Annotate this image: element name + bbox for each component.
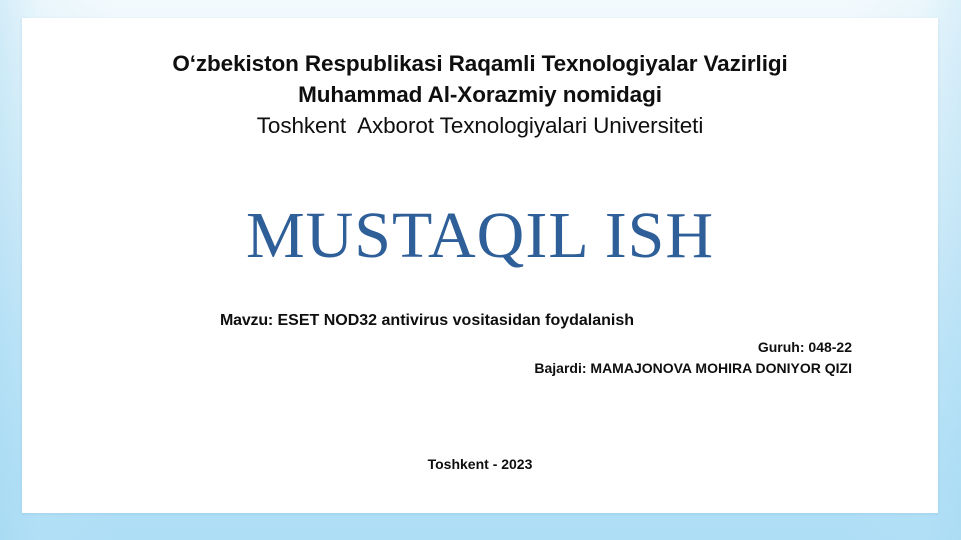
header-line-university-name: Muhammad Al-Xorazmiy nomidagi — [22, 79, 938, 110]
title-slide-header: O‘zbekiston Respublikasi Raqamli Texnolo… — [22, 48, 938, 141]
subject-label: Mavzu: — [220, 312, 273, 329]
group-number: Guruh: 048-22 — [220, 337, 852, 358]
slide-page: O‘zbekiston Respublikasi Raqamli Texnolo… — [22, 18, 938, 513]
page-title: MUSTAQIL ISH — [22, 200, 938, 272]
header-line-university: Toshkent Axborot Texnologiyalari Univers… — [22, 110, 938, 141]
subject-line: Mavzu: ESET NOD32 antivirus vositasidan … — [220, 310, 860, 332]
author-meta-block: Guruh: 048-22 Bajardi: MAMAJONOVA MOHIRA… — [220, 337, 852, 379]
footer-place-year: Toshkent - 2023 — [22, 456, 938, 472]
author-name: Bajardi: MAMAJONOVA MOHIRA DONIYOR QIZI — [220, 358, 852, 379]
header-line-ministry: O‘zbekiston Respublikasi Raqamli Texnolo… — [22, 48, 938, 79]
slide-canvas: O‘zbekiston Respublikasi Raqamli Texnolo… — [0, 0, 961, 540]
subject-value: ESET NOD32 antivirus vositasidan foydala… — [277, 312, 634, 329]
